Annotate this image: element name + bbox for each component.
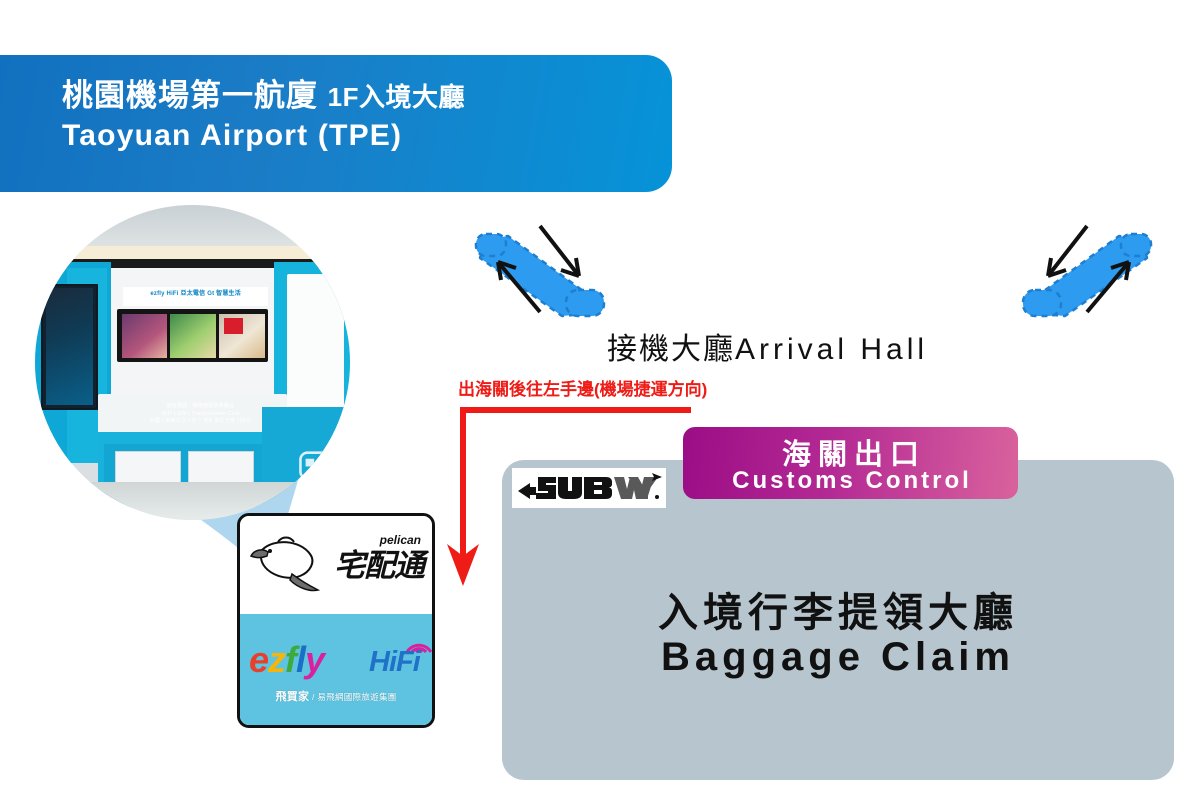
ezfly-wordmark: ezfly HiFi — [249, 642, 429, 682]
photo-counter-cn: 旅遊預繳｜機場捷運票券櫃台 — [130, 403, 272, 411]
arrival-hall-label: 接機大廳Arrival Hall — [607, 324, 928, 368]
airport-guide-map: 桃園機場第一航廈 1F入境大廳 Taoyuan Airport (TPE) ez… — [0, 0, 1200, 800]
pelican-wordmark-en: pelican — [380, 533, 421, 547]
ezfly-letter-f: f — [285, 642, 296, 678]
customs-control-badge: 海關出口 Customs Control — [683, 427, 1018, 499]
hifi-wordmark: HiFi — [369, 648, 420, 677]
pelican-bird-icon — [248, 534, 328, 600]
ezfly-subtitle-cn2: 易飛網國際旅遊集團 — [317, 692, 396, 702]
baggage-claim-label-cn: 入境行李提領大廳 — [502, 580, 1174, 638]
partner-logo-card: pelican 宅配通 ezfly HiFi 飛買家 / 易飛網國際旅遊集團 — [237, 513, 435, 728]
arrival-hall-label-cn: 接機大廳 — [607, 333, 735, 366]
header-title-cn: 桃園機場第一航廈 1F入境大廳 — [62, 77, 672, 115]
route-note-text: 出海關後往左手邊(機場捷運方向) — [458, 375, 707, 400]
arrival-hall-label-en: Arrival Hall — [735, 333, 928, 366]
subway-wordmark-icon — [516, 471, 662, 505]
ezfly-letter-e: e — [249, 642, 268, 678]
ezfly-letter-y: y — [305, 642, 324, 678]
escalator-down-icon — [462, 218, 627, 323]
ezfly-subtitle: 飛買家 / 易飛網國際旅遊集團 — [240, 688, 432, 704]
header-title-cn-main: 桃園機場第一航廈 — [62, 78, 318, 113]
header-banner: 桃園機場第一航廈 1F入境大廳 Taoyuan Airport (TPE) — [0, 55, 672, 192]
ezfly-subtitle-cn: 飛買家 — [275, 691, 309, 703]
photo-counter-caption: 旅遊預繳｜機場捷運票券櫃台 WIFI | SIM | Transportatio… — [130, 403, 272, 426]
ezfly-letter-z: z — [268, 642, 285, 678]
baggage-claim-label-en: Baggage Claim — [502, 635, 1174, 680]
ezfly-logo-block: ezfly HiFi 飛買家 / 易飛網國際旅遊集團 — [240, 614, 432, 725]
pelican-wordmark-cn: 宅配通 — [334, 550, 424, 581]
baggage-claim-panel: 入境行李提領大廳 Baggage Claim — [502, 460, 1174, 780]
ezfly-counter-photo: ezfly HiFi 亞太電信 Gt 智慧生活 旅遊預繳｜機場捷運票券櫃台 WI… — [35, 205, 350, 520]
train-icon — [293, 451, 337, 489]
photo-brand-line: ezfly HiFi 亞太電信 Gt 智慧生活 — [123, 288, 268, 297]
pelican-logo-block: pelican 宅配通 — [240, 516, 432, 614]
subway-logo — [512, 468, 666, 508]
ezfly-letter-l: l — [296, 642, 305, 678]
photo-counter-jp: 外国人専用カウンター 해외 출국 인출 카운터 — [130, 418, 272, 426]
header-title-cn-sub: 1F入境大廳 — [328, 82, 465, 112]
customs-control-label-en: Customs Control — [683, 467, 1018, 495]
escalator-up-icon — [1005, 218, 1165, 323]
header-title-en: Taoyuan Airport (TPE) — [62, 118, 672, 154]
